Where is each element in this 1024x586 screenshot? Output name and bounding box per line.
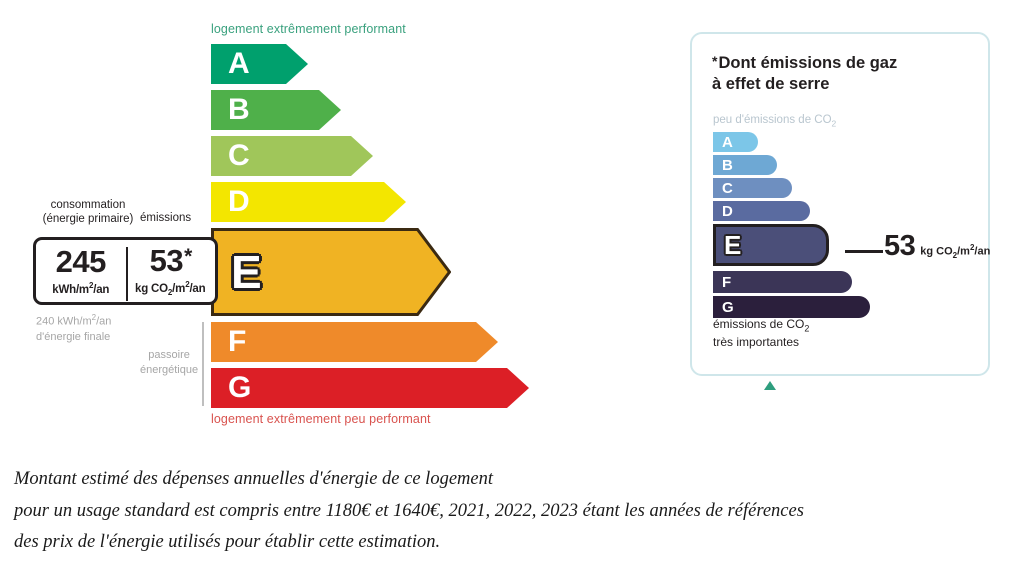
- primary-energy-unit-tail: /an: [93, 284, 109, 296]
- ges-class-bar-d: D: [713, 201, 810, 221]
- primary-energy-unit: kWh/m2/an: [52, 281, 109, 296]
- caption-line-2: pour un usage standard est compris entre…: [14, 500, 1009, 523]
- passoire-energetique-note: passoire énergétique: [140, 348, 198, 378]
- ges-class-letter-d: D: [722, 204, 733, 219]
- ges-callout-unit-tail: /an: [974, 246, 990, 258]
- dpe-value-box: 245 kWh/m2/an 53* kg CO2/m2/an: [33, 237, 218, 305]
- ges-caption-bottom-sub: 2: [804, 323, 809, 333]
- emissions-header: émissions: [140, 212, 191, 224]
- primary-energy-unit-main: kWh/m: [52, 284, 89, 296]
- passoire-line1: passoire: [140, 348, 198, 363]
- ges-caption-bottom-text: émissions de CO: [713, 317, 804, 331]
- ges-title-asterisk: *: [712, 53, 717, 69]
- ges-class-bar-c: C: [713, 178, 792, 198]
- passoire-line2: énergétique: [140, 363, 198, 378]
- co2-unit-tail: /an: [189, 283, 205, 295]
- energy-class-letter-b: B: [228, 95, 250, 125]
- consumption-header-line1: consommation: [38, 198, 138, 212]
- ges-scale-caption-top: peu d'émissions de CO2: [713, 114, 836, 128]
- scale-caption-bottom: logement extrêmement peu performant: [211, 412, 431, 426]
- energy-class-bar-e: E: [211, 228, 451, 316]
- co2-number: 53: [150, 243, 183, 278]
- final-energy-note: 240 kWh/m2/an d'énergie finale: [36, 313, 111, 344]
- ges-class-bar-f: F: [713, 271, 852, 293]
- ges-callout-leader-line: [845, 250, 883, 253]
- energy-class-bar-d: D: [211, 182, 406, 222]
- co2-unit-prefix: kg CO: [135, 283, 168, 295]
- co2-asterisk: *: [184, 245, 192, 268]
- final-energy-line1: 240 kWh/m2/an: [36, 313, 111, 330]
- ges-class-letter-g: G: [722, 300, 734, 315]
- energy-class-bar-f: F: [211, 322, 498, 362]
- energy-class-bar-c: C: [211, 136, 373, 176]
- dpe-screenshot: logement extrêmement performant ABCDEFG …: [0, 0, 1024, 586]
- consumption-header-line2: (énergie primaire): [38, 212, 138, 226]
- ges-callout-unit-prefix: kg CO: [920, 246, 952, 258]
- green-triangle-marker-icon: [764, 381, 776, 390]
- caption-line-3: des prix de l'énergie utilisés pour étab…: [14, 531, 1009, 554]
- ges-title-line1: Dont émissions de gaz: [718, 54, 897, 72]
- ges-caption-top-sub: 2: [832, 118, 837, 128]
- ges-class-letter-a: A: [722, 135, 733, 150]
- primary-energy-number: 245: [56, 246, 106, 277]
- co2-unit: kg CO2/m2/an: [135, 280, 205, 297]
- ges-panel-title: *Dont émissions de gaz à effet de serre: [712, 52, 897, 96]
- energy-class-letter-f: F: [228, 327, 246, 357]
- ges-class-bar-g: G: [713, 296, 870, 318]
- energy-class-letter-g: G: [228, 373, 251, 403]
- energy-class-bar-a: A: [211, 44, 308, 84]
- scale-caption-top: logement extrêmement performant: [211, 22, 406, 36]
- ges-class-letter-f: F: [722, 275, 731, 290]
- energy-bar-shape-f: [211, 322, 498, 362]
- ges-class-letter-b: B: [722, 158, 733, 173]
- passoire-divider-rule: [202, 322, 204, 406]
- ges-emissions-panel: *Dont émissions de gaz à effet de serre …: [690, 32, 990, 376]
- ges-class-bar-b: B: [713, 155, 777, 175]
- energy-performance-scale: logement extrêmement performant ABCDEFG …: [0, 0, 620, 450]
- ges-callout-number: 53: [884, 232, 915, 261]
- ges-callout-unit-mid: /m: [957, 246, 970, 258]
- ges-caption-bottom-line1: émissions de CO2: [713, 317, 809, 335]
- co2-value-cell: 53* kg CO2/m2/an: [126, 240, 216, 302]
- final-energy-value: 240 kWh/m: [36, 316, 92, 328]
- energy-class-letter-e: E: [231, 249, 262, 295]
- energy-class-letter-c: C: [228, 141, 250, 171]
- ges-caption-bottom-line2: très importantes: [713, 335, 809, 351]
- ges-class-bar-e: E: [713, 224, 829, 266]
- energy-class-bar-b: B: [211, 90, 341, 130]
- energy-bar-shape-a: [211, 44, 308, 84]
- final-energy-line2: d'énergie finale: [36, 330, 111, 345]
- ges-class-letter-e: E: [724, 232, 741, 258]
- energy-bar-shape-g: [211, 368, 529, 408]
- primary-energy-value-cell: 245 kWh/m2/an: [36, 240, 126, 302]
- ges-scale-caption-bottom: émissions de CO2 très importantes: [713, 317, 809, 351]
- ges-callout-value: 53 kg CO2/m2/an: [884, 232, 990, 261]
- energy-class-letter-a: A: [228, 49, 250, 79]
- energy-class-bar-g: G: [211, 368, 529, 408]
- ges-caption-top-text: peu d'émissions de CO: [713, 114, 832, 126]
- co2-number-wrap: 53*: [150, 245, 191, 276]
- estimated-cost-caption: Montant estimé des dépenses annuelles d'…: [14, 468, 1009, 563]
- caption-line-1: Montant estimé des dépenses annuelles d'…: [14, 468, 1009, 491]
- final-energy-tail: /an: [96, 316, 111, 328]
- consumption-header: consommation (énergie primaire): [38, 198, 138, 227]
- energy-class-letter-d: D: [228, 187, 250, 217]
- ges-callout-unit: kg CO2/m2/an: [920, 243, 990, 260]
- ges-class-letter-c: C: [722, 181, 733, 196]
- ges-title-line2: à effet de serre: [712, 75, 829, 93]
- co2-unit-mid: /m: [172, 283, 185, 295]
- ges-class-bar-a: A: [713, 132, 758, 152]
